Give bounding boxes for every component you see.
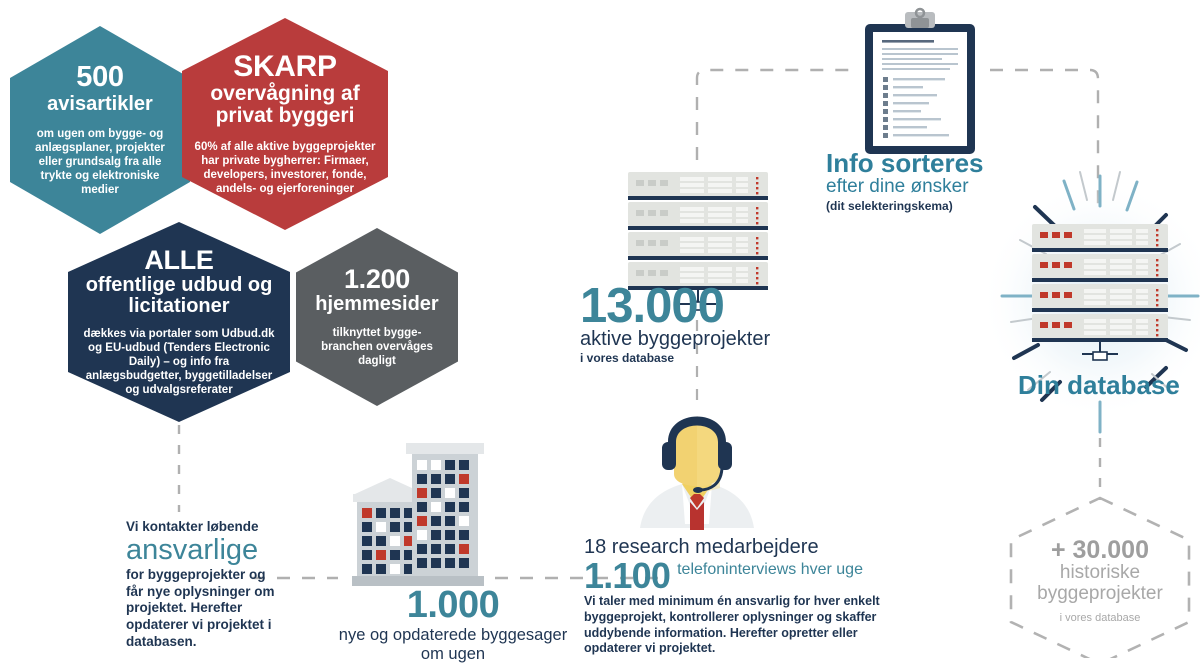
buildings-illustration (352, 443, 484, 586)
hexagon-card-avisartikler: 500 avisartikler om ugen om bygge- og an… (10, 26, 190, 234)
active-projects-text-block: 13.000 aktive byggeprojekter i vores dat… (580, 282, 830, 365)
historical-number: + 30.000 (1051, 538, 1149, 563)
hexagon-body: om ugen om bygge- og anlægsplaner, proje… (10, 127, 190, 197)
buildings-number: 1.000 (338, 586, 568, 624)
server-stack-your-database (1032, 224, 1168, 360)
building-short (352, 478, 428, 586)
research-text-block: 18 research medarbejdere 1.100 telefonin… (584, 536, 894, 657)
hexagon-body: dækkes via portaler som Udbud.dk og EU-u… (68, 327, 290, 397)
hexagon-number: 500 (76, 63, 124, 93)
hexagon-card-alle: ALLE offentlige udbud og licitationer dæ… (68, 222, 290, 422)
info-sorted-text-block: Info sorteres efter dine ønsker (dit sel… (826, 150, 1066, 213)
info-sorted-line3: (dit selekteringskema) (826, 199, 1066, 213)
active-projects-number: 13.000 (580, 282, 830, 330)
historical-sub: i vores database (1060, 612, 1141, 624)
hexagon-card-skarp: SKARP overvågning af privat byggeri 60% … (182, 18, 388, 230)
historical-projects-card: + 30.000 historiske byggeprojekter i vor… (1011, 498, 1189, 664)
infographic-canvas: 500 avisartikler om ugen om bygge- og an… (0, 0, 1200, 658)
research-body: Vi taler med minimum én ansvarlig for hv… (584, 594, 894, 657)
clipboard-icon (865, 9, 975, 154)
hexagon-title: overvågning af privat byggeri (182, 83, 388, 128)
hexagon-body: 60% af alle aktive byggeprojekter har pr… (182, 140, 388, 196)
hexagon-title: offentlige udbud og licitationer (68, 275, 290, 318)
hexagon-title: avisartikler (47, 94, 153, 116)
hexagon-number: ALLE (144, 247, 213, 275)
info-sorted-line2: efter dine ønsker (826, 177, 1066, 198)
hexagon-title: hjemmesider (315, 294, 438, 316)
hexagon-card-hjemmesider: 1.200 hjemmesider tilknyttet bygge-branc… (296, 228, 458, 406)
buildings-text-block: 1.000 nye og opdaterede byggesager om ug… (338, 586, 568, 665)
active-projects-caption: aktive byggeprojekter (580, 329, 830, 350)
research-number-caption: telefoninterviews hver uge (677, 559, 863, 579)
hexagon-number: SKARP (233, 52, 337, 83)
your-database-label: Din database (1018, 372, 1198, 398)
research-number: 1.100 (584, 559, 670, 593)
hexagon-number: 1.200 (344, 266, 410, 294)
ansvarlige-text-block: Vi kontakter løbende ansvarlige for bygg… (126, 519, 276, 650)
ansvarlige-body: for byggeprojekter og får nye oplysninge… (126, 567, 276, 651)
your-database-text-block: Din database (1018, 372, 1198, 398)
building-tall (406, 443, 484, 586)
buildings-caption: nye og opdaterede byggesager om ugen (338, 626, 568, 665)
hexagon-body: tilknyttet bygge-branchen overvåges dagl… (296, 326, 458, 368)
historical-title: historiske byggeprojekter (1011, 563, 1189, 605)
research-number-row: 1.100 telefoninterviews hver uge (584, 559, 894, 593)
ansvarlige-highlight: ansvarlige (126, 536, 276, 566)
info-sorted-line1: Info sorteres (826, 150, 1066, 177)
support-agent-icon (640, 416, 754, 530)
ansvarlige-line1: Vi kontakter løbende (126, 519, 276, 535)
active-projects-sub: i vores database (580, 351, 830, 365)
